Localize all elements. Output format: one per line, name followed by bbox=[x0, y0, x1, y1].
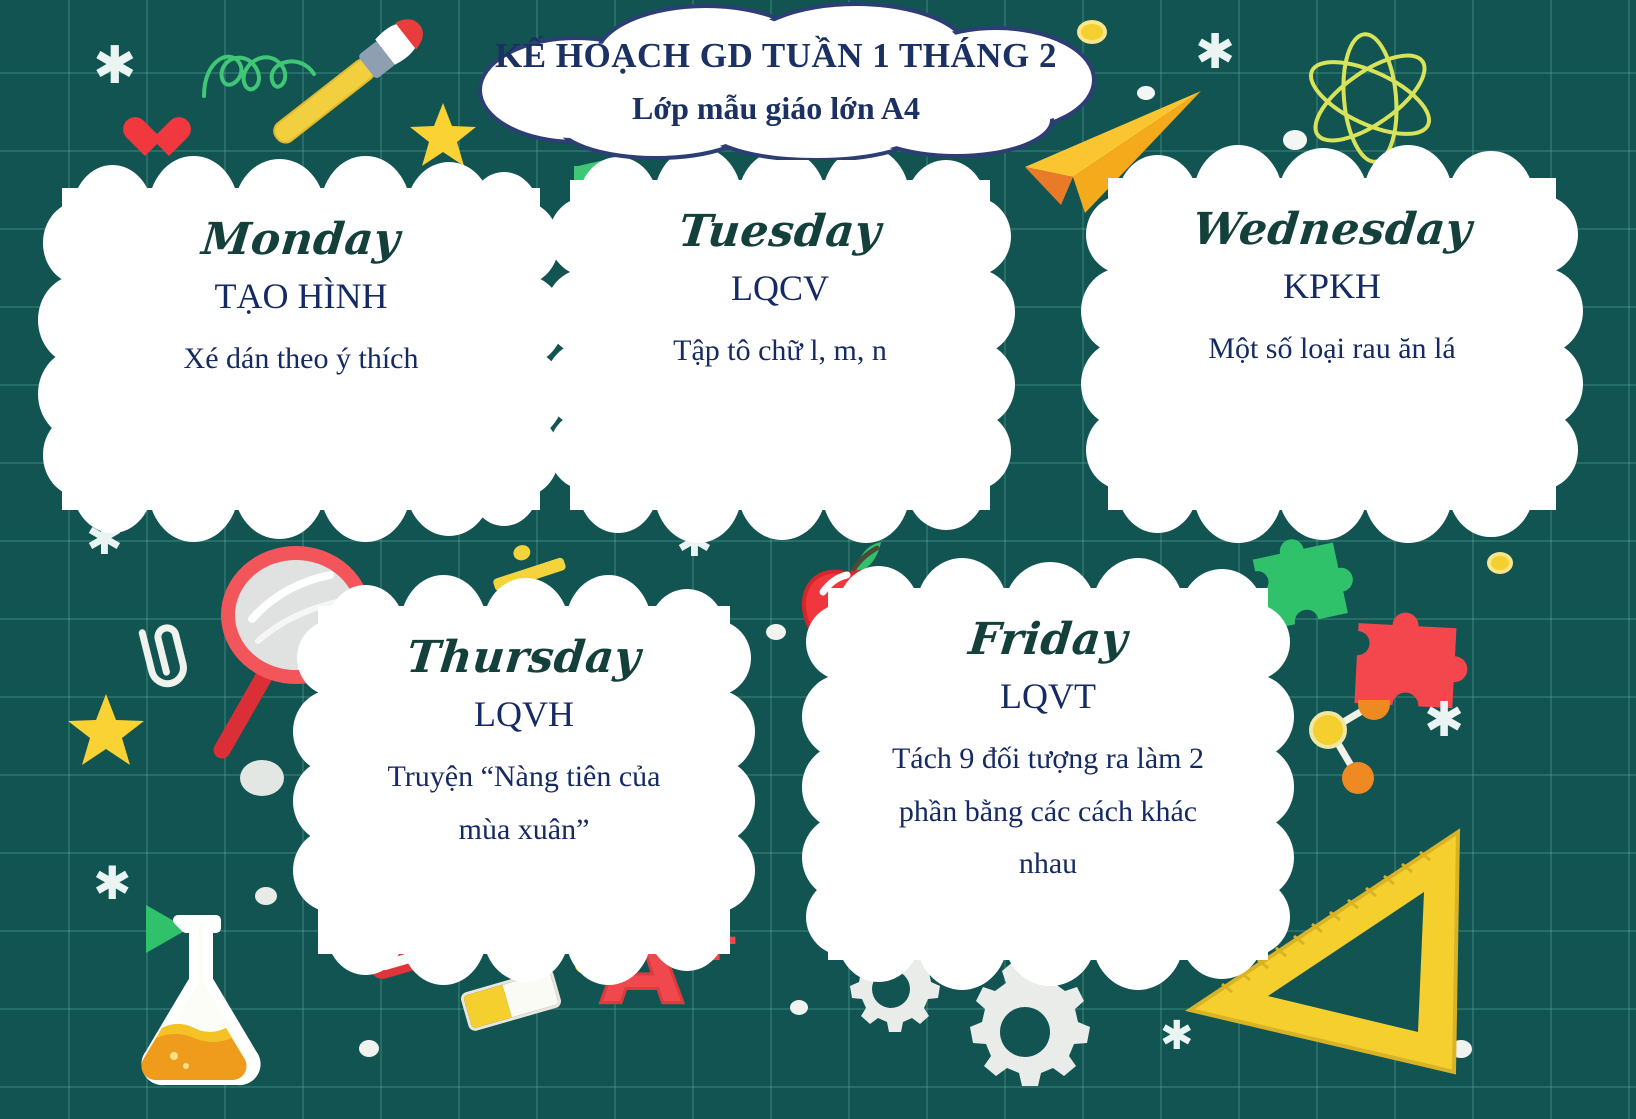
detail-wednesday: Một số loại rau ăn lá bbox=[1168, 323, 1495, 376]
subject-thursday: LQVH bbox=[474, 693, 574, 735]
day-card-monday[interactable]: Monday TẠO HÌNH Xé dán theo ý thích bbox=[62, 188, 540, 510]
star-icon bbox=[66, 690, 146, 775]
day-name-thursday: Thursday bbox=[405, 632, 644, 683]
white-dot-icon bbox=[1137, 86, 1155, 100]
day-name-wednesday: Wednesday bbox=[1190, 204, 1474, 255]
sparkle-icon: ✱ bbox=[1160, 1016, 1194, 1056]
subject-friday: LQVT bbox=[1000, 675, 1096, 717]
red-puzzle-piece-icon bbox=[1340, 596, 1486, 713]
sparkle-icon: ✱ bbox=[93, 860, 132, 906]
green-squiggle-icon bbox=[196, 30, 336, 110]
subject-wednesday: KPKH bbox=[1283, 265, 1381, 307]
title-cloud: KẾ HOẠCH GD TUẦN 1 THÁNG 2 Lớp mẫu giáo … bbox=[456, 2, 1096, 160]
white-dot-icon bbox=[1283, 130, 1307, 150]
day-name-friday: Friday bbox=[966, 614, 1130, 665]
sparkle-icon: ✱ bbox=[93, 40, 137, 92]
white-dot-icon bbox=[255, 887, 277, 905]
white-dot-icon bbox=[790, 1000, 808, 1015]
day-card-thursday[interactable]: Thursday LQVH Truyện “Nàng tiên của mùa … bbox=[318, 606, 730, 954]
white-dot-icon bbox=[766, 624, 786, 640]
detail-monday: Xé dán theo ý thích bbox=[144, 333, 459, 386]
paperclip-icon bbox=[127, 614, 204, 702]
yellow-dot-icon bbox=[1487, 552, 1513, 574]
day-card-tuesday[interactable]: Tuesday LQCV Tập tô chữ l, m, n bbox=[570, 180, 990, 510]
page-title: KẾ HOẠCH GD TUẦN 1 THÁNG 2 bbox=[495, 36, 1057, 76]
paintbrush-icon bbox=[255, 0, 450, 163]
green-triangle-icon bbox=[146, 905, 188, 953]
title-text-block: KẾ HOẠCH GD TUẦN 1 THÁNG 2 Lớp mẫu giáo … bbox=[456, 2, 1096, 160]
weekly-plan-poster: ✱ bbox=[0, 0, 1636, 1119]
white-dot-icon bbox=[359, 1040, 379, 1057]
day-name-monday: Monday bbox=[199, 214, 402, 265]
day-card-wednesday[interactable]: Wednesday KPKH Một số loại rau ăn lá bbox=[1108, 178, 1556, 510]
flask-icon bbox=[122, 910, 272, 1095]
subject-tuesday: LQCV bbox=[731, 267, 829, 309]
subject-monday: TẠO HÌNH bbox=[215, 275, 388, 317]
white-dot-icon bbox=[1450, 1040, 1472, 1058]
detail-thursday: Truyện “Nàng tiên của mùa xuân” bbox=[318, 751, 730, 856]
heart-icon bbox=[122, 118, 168, 160]
white-dot-icon bbox=[240, 760, 284, 796]
sparkle-icon: ✱ bbox=[1424, 696, 1464, 744]
page-subtitle: Lớp mẫu giáo lớn A4 bbox=[632, 90, 920, 127]
molecule-icon bbox=[1300, 700, 1420, 840]
day-card-friday[interactable]: Friday LQVT Tách 9 đối tượng ra làm 2 ph… bbox=[828, 588, 1268, 960]
detail-tuesday: Tập tô chữ l, m, n bbox=[633, 325, 927, 378]
day-name-tuesday: Tuesday bbox=[676, 206, 883, 257]
sparkle-icon: ✱ bbox=[1195, 28, 1235, 76]
detail-friday: Tách 9 đối tượng ra làm 2 phần bằng các … bbox=[828, 733, 1268, 891]
